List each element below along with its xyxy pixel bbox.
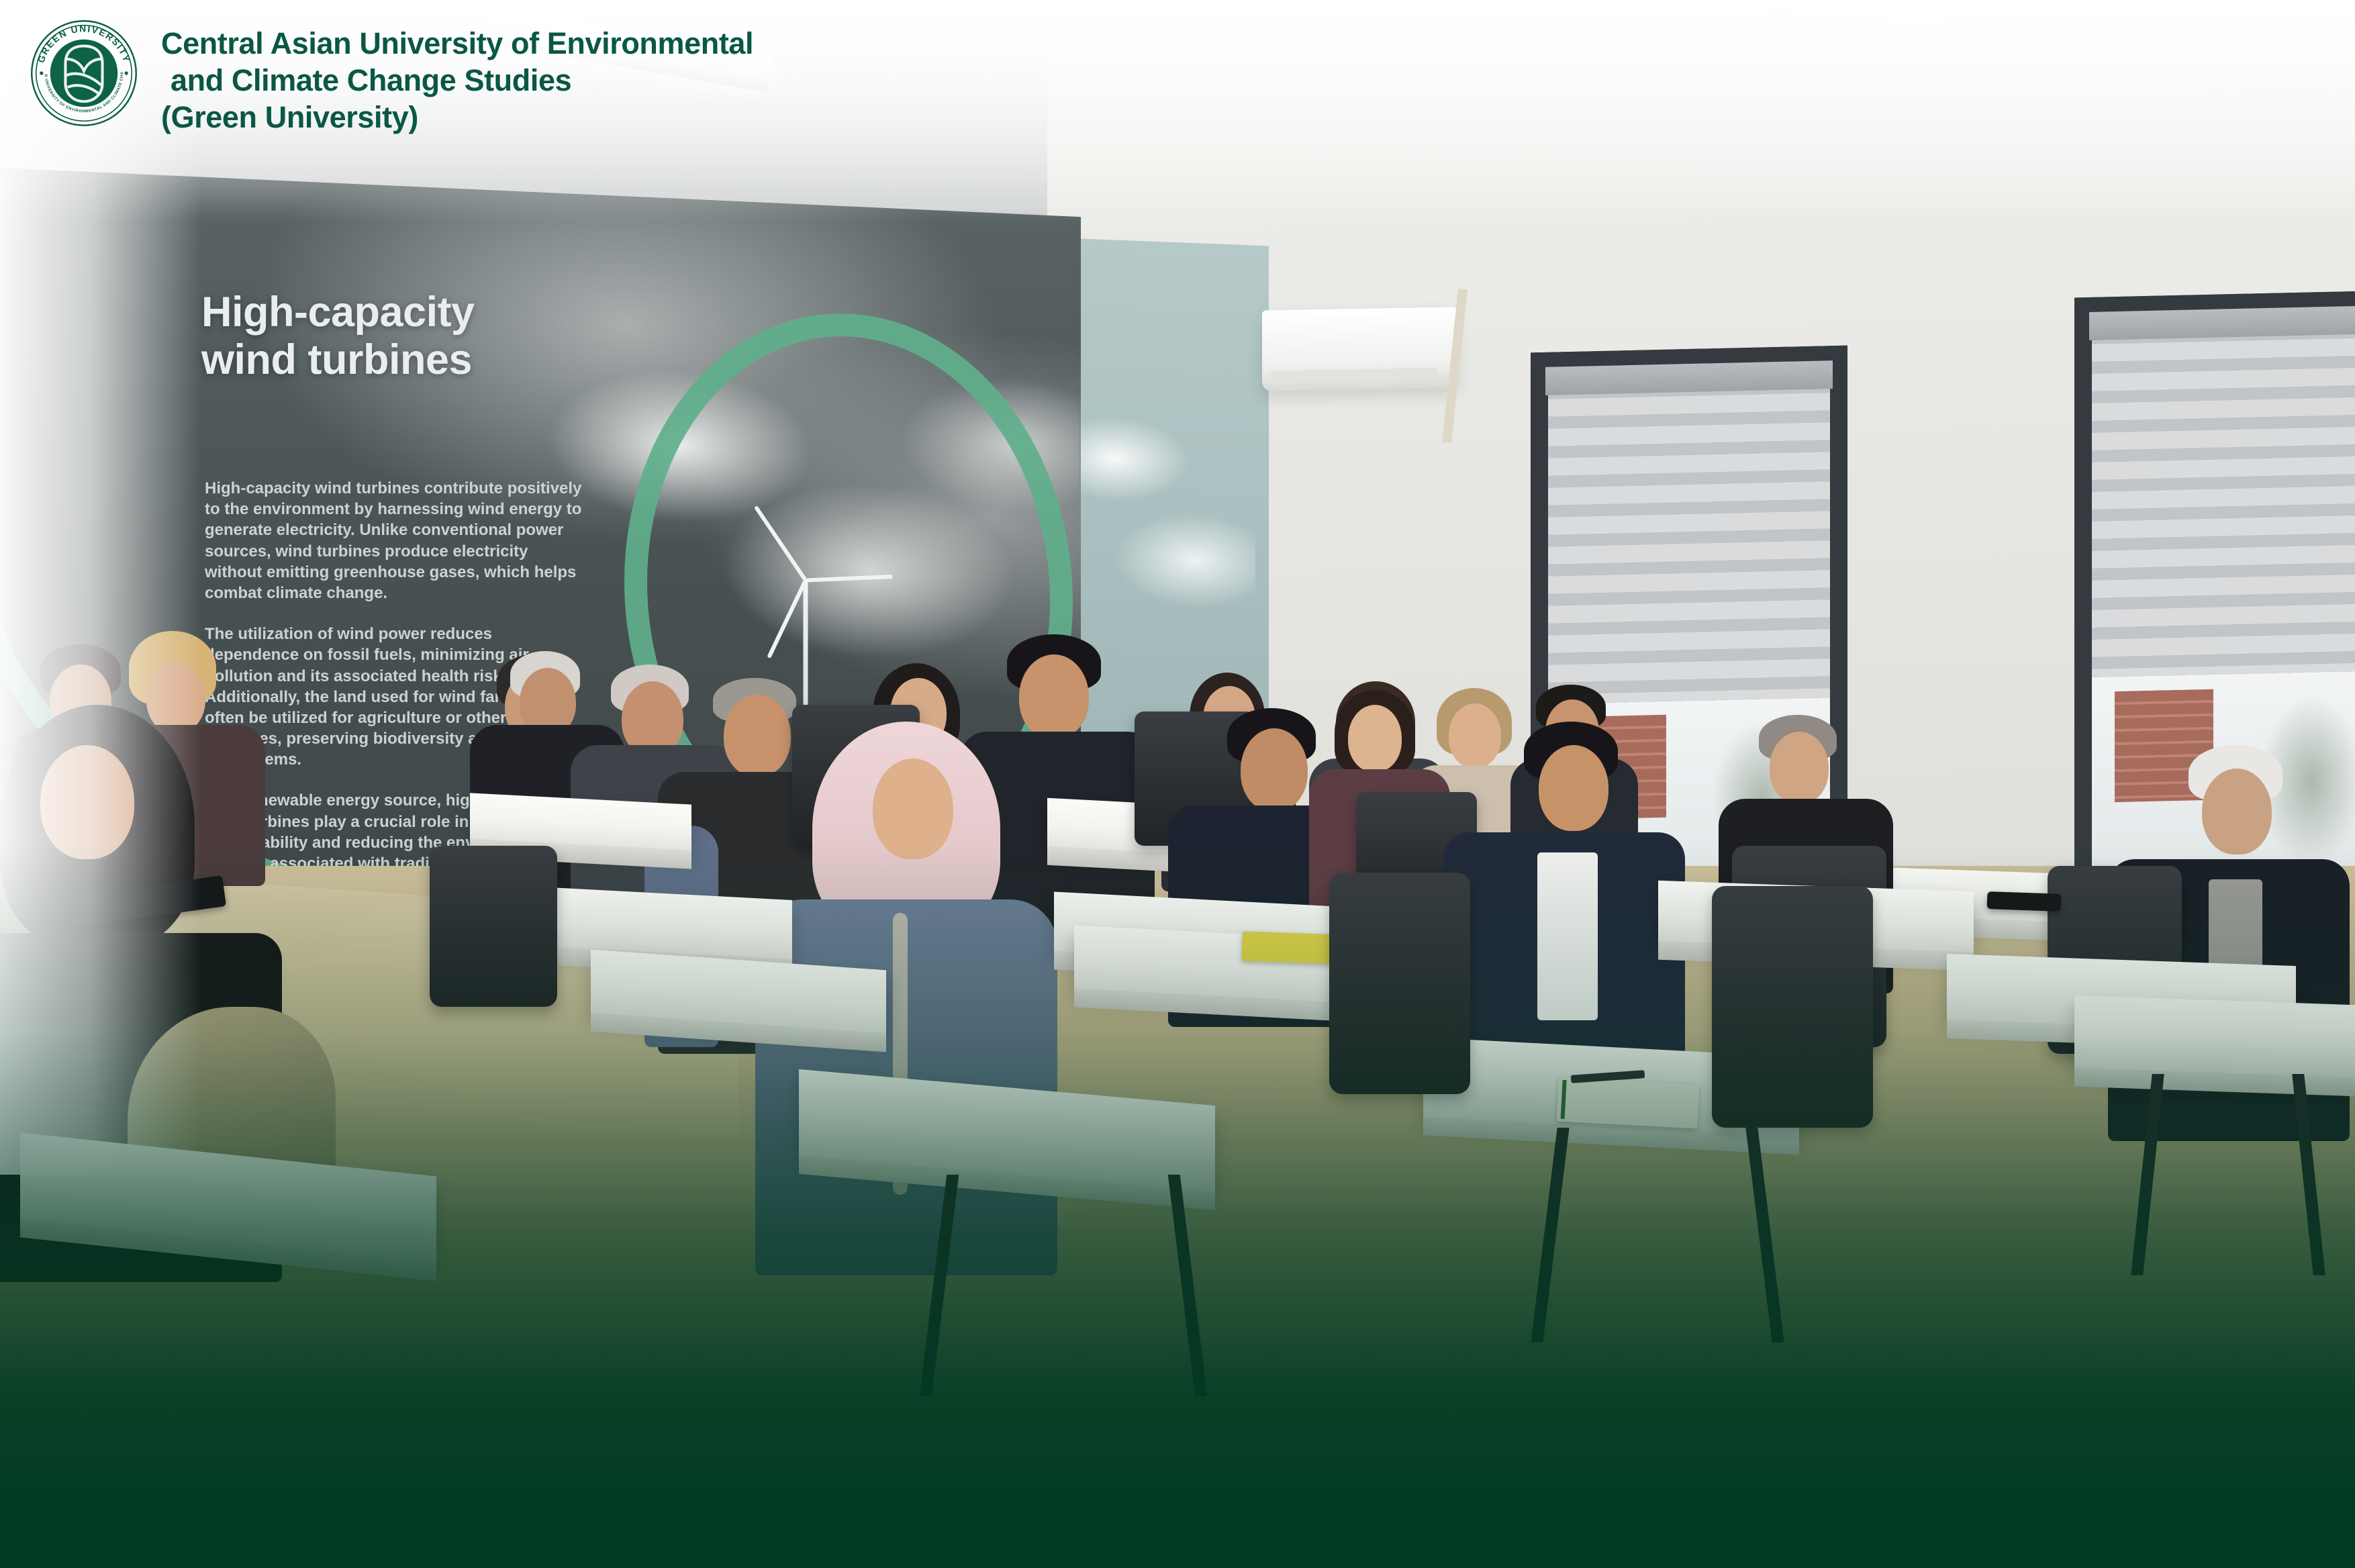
green-university-seal-logo: GREEN UNIVERSITY CENTRAL ASIAN UNIVERSIT…: [30, 19, 138, 128]
brand-title-line-1: Central Asian University of Environmenta…: [161, 26, 753, 62]
brand-title-block: Central Asian University of Environmenta…: [161, 19, 753, 136]
window-blind: [2092, 308, 2355, 677]
chair: [430, 846, 557, 1007]
notebook: [1556, 1077, 1699, 1129]
brand-title-line-3: (Green University): [161, 99, 753, 136]
brand-header: GREEN UNIVERSITY CENTRAL ASIAN UNIVERSIT…: [30, 19, 753, 136]
screenshot-root: High-capacity wind turbines High-capacit…: [0, 0, 2355, 1568]
classroom-photo: High-capacity wind turbines High-capacit…: [0, 0, 2355, 1568]
brand-title-line-2: and Climate Change Studies: [161, 62, 753, 99]
chair: [1712, 886, 1873, 1128]
mural-headline-line1: High-capacity: [201, 289, 550, 336]
air-conditioner: [1262, 307, 1457, 391]
window-blind: [1548, 363, 1830, 704]
mural-paragraph-1: High-capacity wind turbines contribute p…: [205, 478, 587, 603]
folder: [1241, 931, 1343, 964]
mural-headline-line2: wind turbines: [201, 336, 550, 384]
desk-front-right: [2074, 995, 2355, 1079]
chair: [1329, 873, 1470, 1094]
mural-headline: High-capacity wind turbines: [201, 289, 550, 383]
mobile-phone: [1987, 891, 2062, 912]
